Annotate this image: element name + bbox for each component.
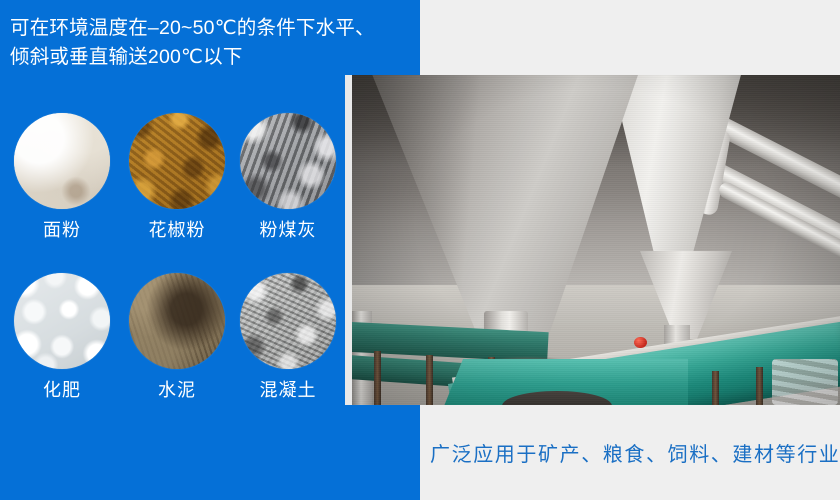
material-item-flour: 面粉 (4, 113, 120, 241)
material-item-concrete: 混凝土 (230, 273, 346, 401)
photo-support-leg (374, 351, 381, 405)
material-label: 化肥 (4, 379, 120, 401)
material-item-fly-ash: 粉煤灰 (230, 113, 346, 241)
photo-support-leg (756, 367, 763, 405)
headline-line-1: 可在环境温度在–20~50℃的条件下水平、 (10, 14, 410, 43)
material-item-pepper-powder: 花椒粉 (119, 113, 235, 241)
material-item-cement: 水泥 (119, 273, 235, 401)
photo-red-indicator (634, 337, 647, 348)
material-grid: 面粉 花椒粉 粉煤灰 化肥 (0, 113, 345, 423)
headline-text: 可在环境温度在–20~50℃的条件下水平、 倾斜或垂直输送200℃以下 (10, 14, 410, 72)
material-label: 水泥 (119, 379, 235, 401)
promo-banner: 可在环境温度在–20~50℃的条件下水平、 倾斜或垂直输送200℃以下 面粉 花… (0, 0, 840, 500)
headline-line-2: 倾斜或垂直输送200℃以下 (10, 43, 410, 72)
material-row: 化肥 水泥 混凝土 (0, 273, 345, 423)
fly-ash-swatch-icon (240, 113, 336, 209)
photo-support-leg (426, 355, 433, 405)
factory-photo (352, 75, 840, 405)
material-item-fertilizer: 化肥 (4, 273, 120, 401)
photo-stacked-bags (772, 359, 838, 405)
cement-swatch-icon (129, 273, 225, 369)
material-label: 面粉 (4, 219, 120, 241)
caption-bar: 广泛应用于矿产、粮食、饲料、建材等行业 (420, 405, 840, 500)
concrete-swatch-icon (240, 273, 336, 369)
material-row: 面粉 花椒粉 粉煤灰 (0, 113, 345, 263)
pepper-powder-swatch-icon (129, 113, 225, 209)
material-label: 混凝土 (230, 379, 346, 401)
factory-photo-frame (345, 75, 840, 405)
flour-swatch-icon (14, 113, 110, 209)
caption-text: 广泛应用于矿产、粮食、饲料、建材等行业 (430, 438, 840, 467)
material-label: 粉煤灰 (230, 219, 346, 241)
photo-support-leg (712, 371, 719, 405)
fertilizer-swatch-icon (14, 273, 110, 369)
material-label: 花椒粉 (119, 219, 235, 241)
